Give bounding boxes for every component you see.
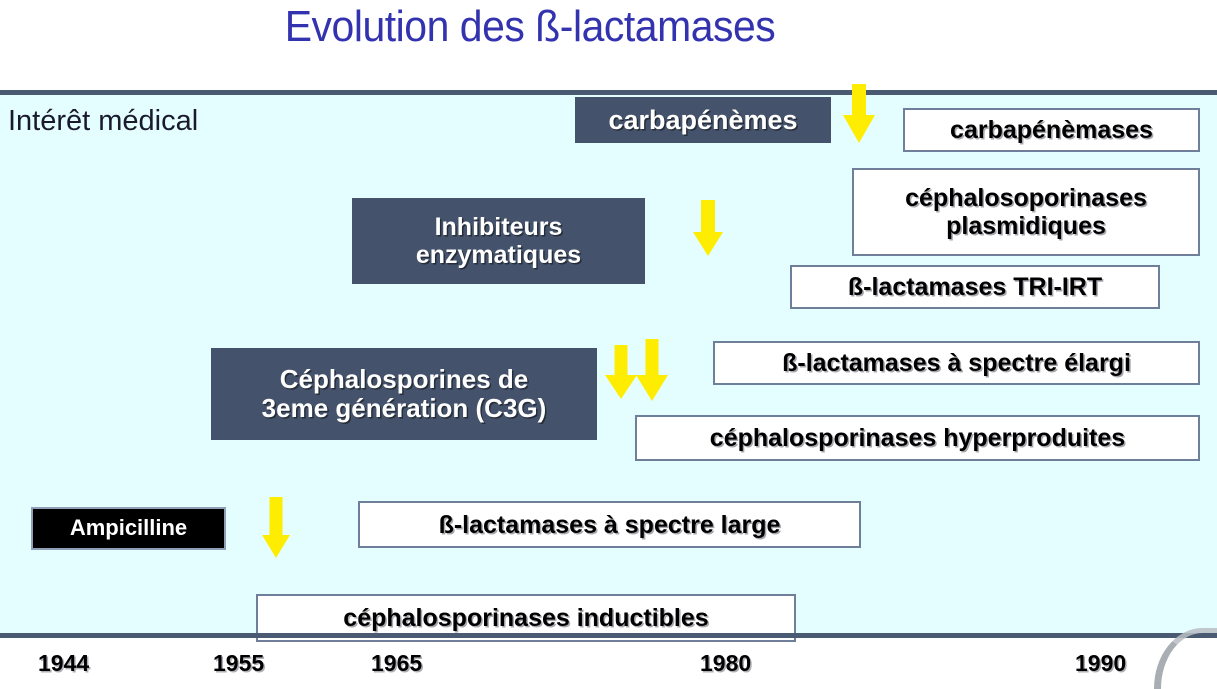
enzyme-box-carbapenemases[interactable]: carbapénèmases — [903, 108, 1200, 152]
enzyme-box-carbapenemases-label: carbapénèmases — [950, 116, 1153, 144]
arrow-head — [262, 535, 290, 558]
drug-box-c3g-label: Céphalosporines de 3eme génération (C3G) — [262, 365, 547, 423]
enzyme-box-spectre-large[interactable]: ß-lactamases à spectre large — [358, 501, 861, 548]
arrow-head — [843, 115, 875, 143]
enzyme-box-spectre-large-label: ß-lactamases à spectre large — [439, 511, 781, 539]
enzyme-box-tri-irt[interactable]: ß-lactamases TRI-IRT — [790, 265, 1160, 309]
drug-box-inhibiteurs-label: Inhibiteurs enzymatiques — [416, 213, 581, 269]
arrow-shaft — [646, 339, 659, 376]
enzyme-box-spectre-elargi[interactable]: ß-lactamases à spectre élargi — [713, 341, 1200, 385]
slide-root: Evolution des ß-lactamases Intérêt médic… — [0, 0, 1217, 689]
y-axis-label: Intérêt médical — [8, 105, 198, 138]
arrow-c3g-right — [636, 339, 668, 401]
enzyme-box-cephalosporinases-plasmidiques-label: céphalosoporinases plasmidiques — [905, 184, 1147, 240]
arrow-shaft — [852, 84, 866, 116]
arrow-inhibiteurs — [693, 200, 723, 256]
arrow-c3g-left — [605, 345, 637, 399]
year-tick-1944: 1944 — [38, 650, 89, 677]
year-tick-1980: 1980 — [700, 650, 751, 677]
arrow-carbapenemes — [843, 84, 875, 143]
drug-box-carbapenemes[interactable]: carbapénèmes — [575, 97, 831, 143]
arrow-shaft — [270, 497, 283, 536]
drug-box-inhibiteurs[interactable]: Inhibiteurs enzymatiques — [352, 198, 645, 284]
enzyme-box-hyperproduites[interactable]: céphalosporinases hyperproduites — [635, 415, 1200, 461]
year-tick-1990: 1990 — [1075, 650, 1126, 677]
enzyme-box-tri-irt-label: ß-lactamases TRI-IRT — [848, 273, 1102, 301]
arrow-head — [693, 232, 723, 256]
timeline-axis — [0, 633, 1217, 638]
arrow-head — [636, 375, 668, 401]
enzyme-box-inductibles-label: céphalosporinases inductibles — [343, 604, 708, 632]
drug-box-c3g[interactable]: Céphalosporines de 3eme génération (C3G) — [211, 348, 597, 440]
arrow-shaft — [701, 200, 715, 233]
drug-box-carbapenemes-label: carbapénèmes — [608, 105, 797, 135]
enzyme-box-hyperproduites-label: céphalosporinases hyperproduites — [710, 424, 1125, 452]
enzyme-box-cephalosporinases-plasmidiques[interactable]: céphalosoporinases plasmidiques — [852, 168, 1200, 256]
arrow-head — [605, 375, 637, 399]
year-tick-1955: 1955 — [213, 650, 264, 677]
arrow-ampicilline — [262, 497, 290, 558]
drug-box-ampicilline[interactable]: Ampicilline — [31, 507, 226, 550]
page-title: Evolution des ß-lactamases — [37, 2, 1023, 52]
enzyme-box-spectre-elargi-label: ß-lactamases à spectre élargi — [782, 349, 1131, 377]
drug-box-ampicilline-label: Ampicilline — [70, 516, 187, 541]
year-tick-1965: 1965 — [371, 650, 422, 677]
arrow-shaft — [615, 345, 628, 376]
